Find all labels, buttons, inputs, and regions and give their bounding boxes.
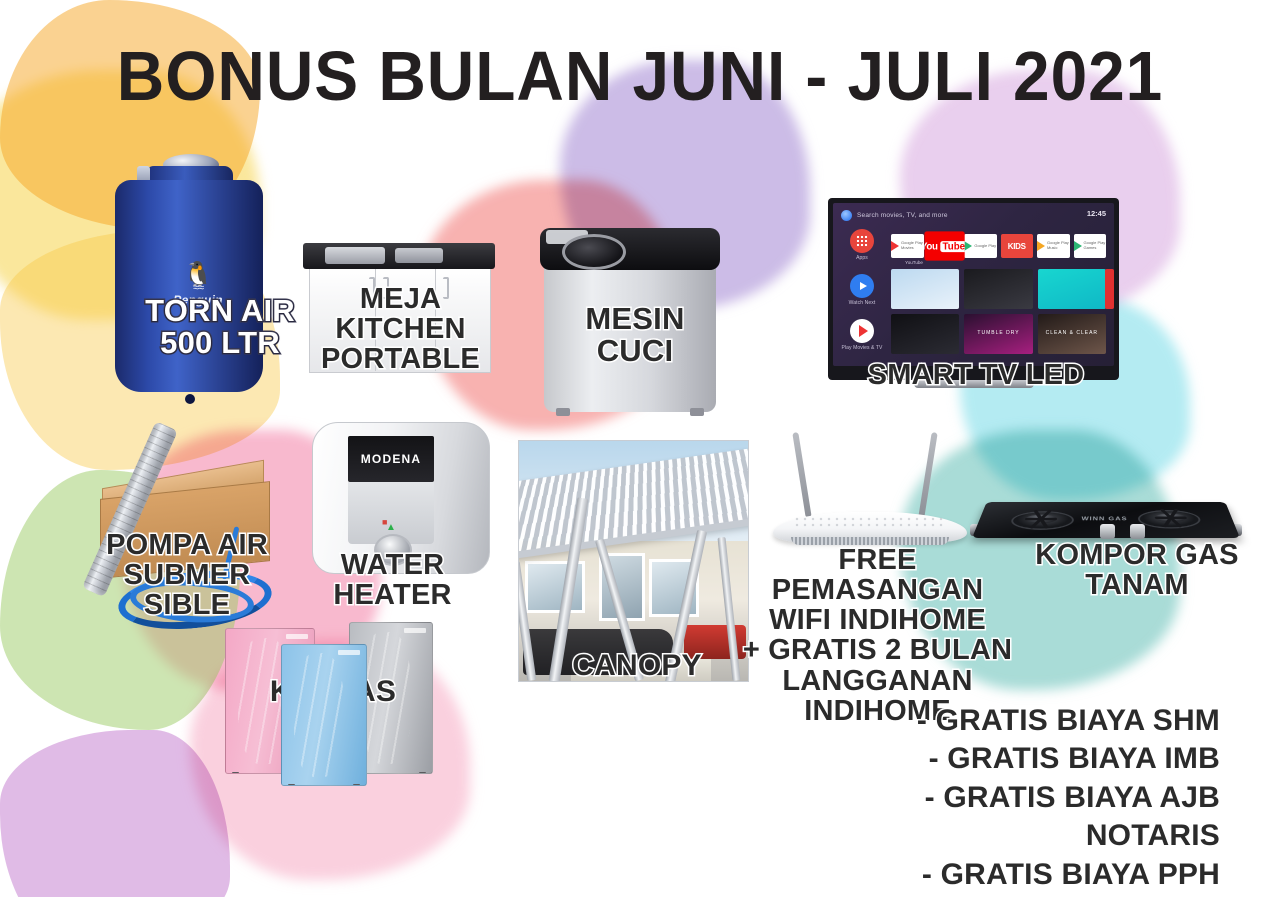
tv-card-row — [891, 269, 1106, 309]
tv-search-placeholder: Search movies, TV, and more — [857, 212, 948, 219]
washer-foot — [690, 408, 704, 416]
router-vents — [793, 516, 943, 528]
tv-content-card[interactable]: TUMBLE DRY — [964, 314, 1032, 354]
tv-screen: Search movies, TV, and more 12:45 Apps W… — [833, 203, 1114, 366]
tv-content-card[interactable] — [964, 269, 1032, 309]
cabinet-countertop — [303, 243, 495, 269]
tv-sidebar-label: Watch Next — [841, 300, 883, 306]
poster-title: BONUS BULAN JUNI - JULI 2021 — [38, 36, 1241, 116]
tv-app-tile[interactable]: Google Play — [964, 234, 997, 258]
hob-knob-right[interactable] — [1130, 524, 1145, 539]
tv-content-cards: TUMBLE DRY CLEAN & CLEAR — [891, 269, 1106, 359]
tv-app-tile[interactable]: Google Play Music — [1037, 234, 1070, 258]
tank-outlet — [185, 394, 195, 404]
router-antenna — [792, 432, 811, 518]
washer-lids — [540, 228, 720, 270]
play-music-icon — [1037, 241, 1045, 251]
tv-app-label: Google Play Music — [1047, 241, 1070, 251]
hob-grate-left — [1003, 510, 1077, 529]
tv-content-card[interactable] — [891, 314, 959, 354]
tv-app-tile-youtube[interactable]: You Tube — [924, 231, 964, 260]
smart-tv-product: Search movies, TV, and more 12:45 Apps W… — [828, 198, 1119, 380]
label-water-heater: WATER HEATER — [290, 550, 495, 610]
tv-app-label: Google Play Movies — [901, 241, 924, 251]
tv-content-card[interactable] — [1038, 269, 1106, 309]
tv-card-title: TUMBLE DRY — [964, 330, 1032, 336]
tv-sidebar-item-watch-next[interactable]: Watch Next — [841, 274, 883, 306]
tv-content-card[interactable]: CLEAN & CLEAR — [1038, 314, 1106, 354]
apps-grid-icon — [850, 229, 874, 253]
tv-app-label: Google Play — [974, 244, 996, 249]
tv-featured-caption: YouTube — [891, 260, 937, 265]
youtube-tube-mark: Tube — [940, 241, 964, 252]
tv-card-title: CLEAN & CLEAR — [1038, 330, 1106, 336]
mic-icon[interactable] — [841, 210, 852, 221]
penguin-wave-icon: ≈≈ — [167, 284, 229, 293]
tv-sidebar-item-play-movies[interactable]: Play Movies & TV — [841, 319, 883, 351]
tv-sidebar-label: Play Movies & TV — [841, 345, 883, 351]
free-fees-list: - GRATIS BIAYA SHM - GRATIS BIAYA IMB - … — [820, 702, 1220, 894]
play-circle-icon — [850, 274, 874, 298]
tv-clock: 12:45 — [1087, 209, 1106, 218]
tv-app-row: Google Play Movies You Tube Google Play … — [891, 234, 1106, 258]
youtube-wordmark: You — [924, 241, 937, 252]
tv-app-label: KIDS — [1008, 242, 1026, 251]
tank-body: 🐧 ≈≈ Penguin — [115, 180, 263, 392]
label-mesin-cuci: MESIN CUCI — [570, 303, 700, 367]
tv-app-tile[interactable]: Google Play Games — [1074, 234, 1107, 258]
label-pompa-air: POMPA AIR SUBMER SIBLE — [92, 530, 282, 620]
label-kompor-gas: KOMPOR GAS TANAM — [1022, 540, 1252, 600]
tv-sidebar: Apps Watch Next Play Movies & TV — [841, 229, 883, 364]
play-games-icon — [1074, 241, 1082, 251]
sink-basin-icon — [325, 247, 385, 264]
play-movies-icon — [891, 241, 899, 251]
tv-app-label: Google Play Games — [1084, 241, 1107, 251]
label-wifi-indihome-offer: FREE PEMASANGAN WIFI INDIHOME + GRATIS 2… — [735, 545, 1020, 726]
tv-content-card[interactable] — [891, 269, 959, 309]
wifi-router-product — [765, 432, 975, 552]
play-store-movies-icon — [850, 319, 874, 343]
tv-sidebar-item-apps[interactable]: Apps — [841, 229, 883, 261]
winn-gas-brand-text: WINN GAS — [1081, 516, 1127, 522]
fridge-blue — [281, 644, 367, 786]
hob-knob-left[interactable] — [1100, 524, 1115, 539]
modena-brand-text: MODENA — [361, 452, 422, 466]
sink-drainer-icon — [395, 248, 443, 263]
heater-brand-panel: MODENA — [348, 436, 434, 482]
label-smart-tv: SMART TV LED — [866, 360, 1086, 390]
washer-spinner-icon — [562, 234, 626, 270]
tv-content-card-edge — [1105, 269, 1114, 309]
washer-foot — [556, 408, 570, 416]
canopy-photo — [518, 440, 749, 682]
hob-grate-right — [1135, 509, 1208, 527]
promo-poster: BONUS BULAN JUNI - JULI 2021 🐧 ≈≈ Pengui… — [0, 0, 1280, 897]
tv-search-row[interactable]: Search movies, TV, and more — [841, 209, 1106, 222]
router-antenna — [918, 432, 937, 518]
tv-card-row: TUMBLE DRY CLEAN & CLEAR — [891, 314, 1106, 354]
label-torn-air: TORN AIR 500 LTR — [120, 295, 320, 359]
play-store-icon — [964, 241, 972, 251]
tv-app-tile[interactable]: Google Play Movies — [891, 234, 924, 258]
label-canopy: CANOPY — [572, 650, 702, 681]
tv-app-tile-kids[interactable]: KIDS — [1001, 234, 1034, 258]
label-meja-kitchen: MEJA KITCHEN PORTABLE — [308, 284, 493, 374]
tv-sidebar-label: Apps — [841, 255, 883, 261]
heater-ready-led-icon: ▲ — [386, 522, 396, 533]
